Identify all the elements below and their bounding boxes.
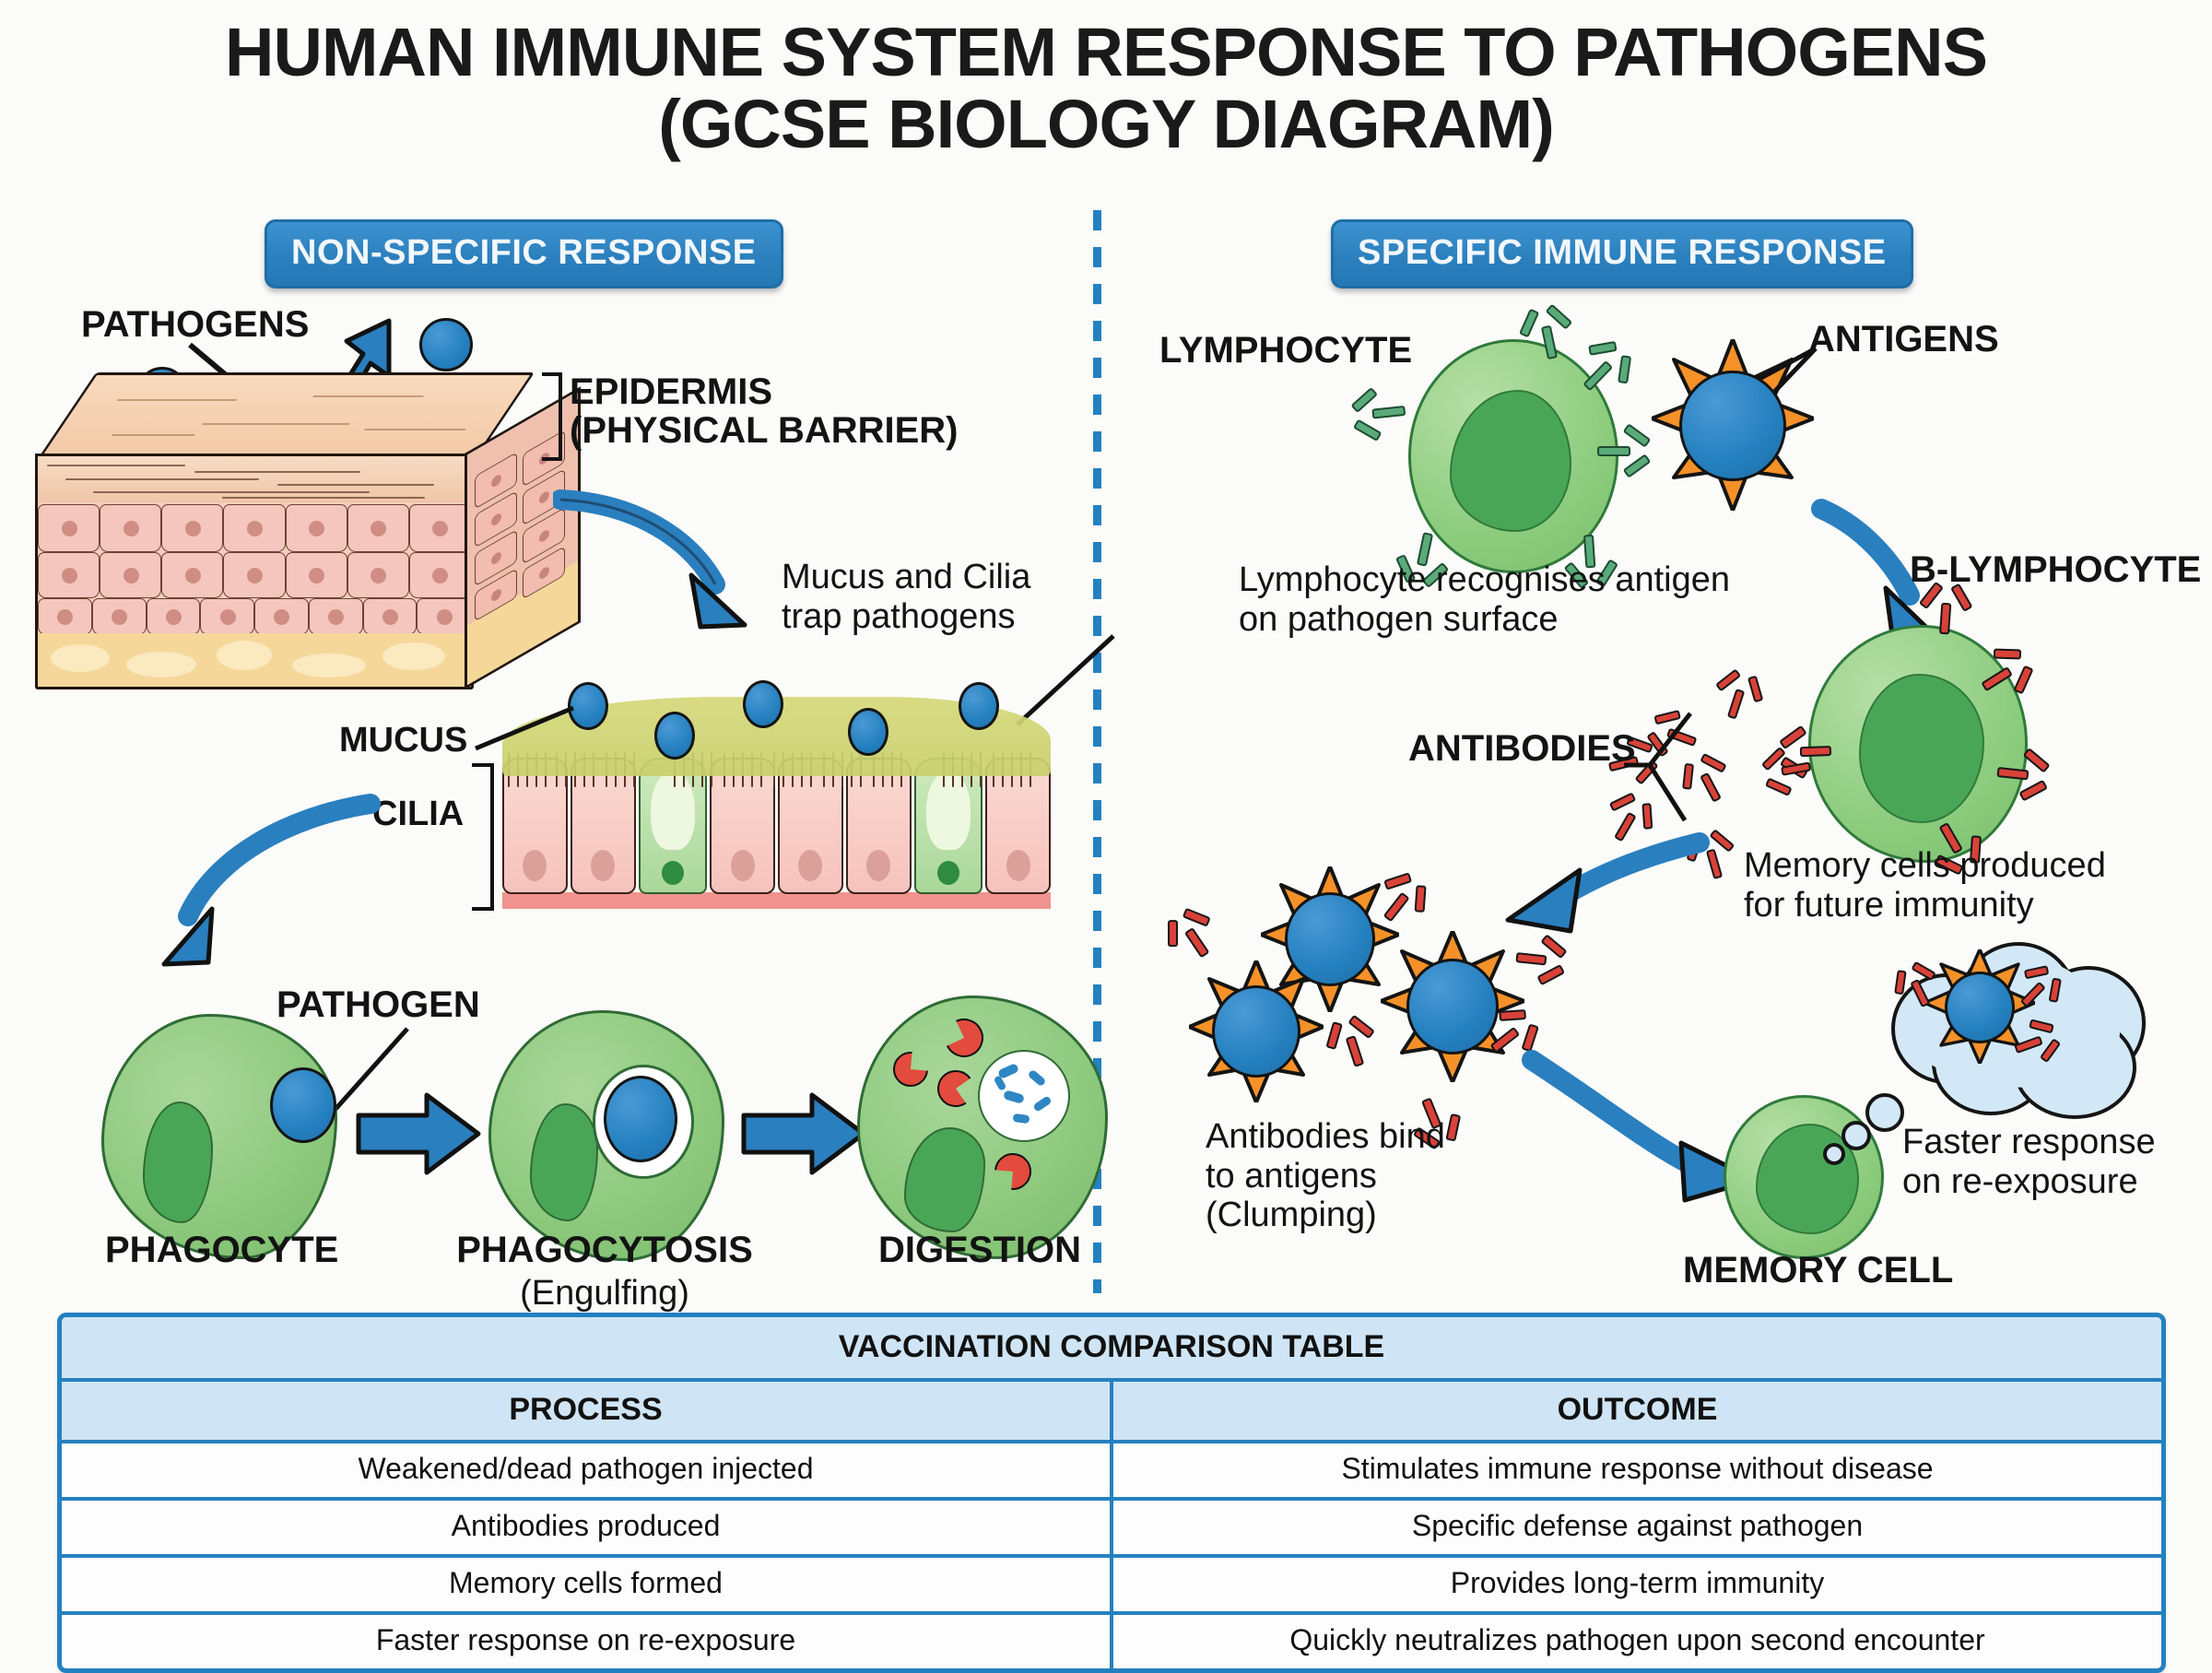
epidermis-layers xyxy=(35,454,474,689)
table-row: Antibodies produced Specific defense aga… xyxy=(62,1497,2161,1554)
receptor-icon xyxy=(1347,387,1407,442)
cilia-bracket xyxy=(472,763,494,911)
lysosome-vacuole xyxy=(978,1050,1070,1142)
thought-bubble-tail xyxy=(1865,1093,1904,1132)
table-cell-process: Faster response on re-exposure xyxy=(62,1615,1110,1668)
antibodies-label: ANTIBODIES xyxy=(1408,728,1636,770)
antibody-icon xyxy=(1994,747,2053,800)
title-line-1: HUMAN IMMUNE SYSTEM RESPONSE TO PATHOGEN… xyxy=(225,14,1987,90)
memory-cell xyxy=(1724,1095,1884,1259)
enzyme-icon xyxy=(939,1013,989,1063)
basement-membrane xyxy=(502,892,1051,909)
skin-surface xyxy=(35,372,535,463)
memory-cell-label: MEMORY CELL xyxy=(1683,1250,1953,1291)
cell-nucleus xyxy=(1450,390,1571,532)
pathogen-core xyxy=(1285,892,1375,986)
clumping-caption-line-1: Antibodies bind xyxy=(1206,1117,1445,1157)
faster-caption-line-2: on re-exposure xyxy=(1902,1162,2156,1202)
memory-caption-line-1: Memory cells produced xyxy=(1744,846,2106,886)
phagocytosis-cell xyxy=(488,1010,724,1261)
epidermis-label: EPIDERMIS (PHYSICAL BARRIER) xyxy=(570,372,959,450)
table-header-process: PROCESS xyxy=(62,1382,1110,1440)
table-caption-row: VACCINATION COMPARISON TABLE xyxy=(62,1317,2161,1378)
epithelium-to-phagocyte-arrow xyxy=(157,793,387,977)
section-badge-specific: SPECIFIC IMMUNE RESPONSE xyxy=(1331,219,1913,289)
stratum-corneum xyxy=(38,456,471,502)
table-header-outcome: OUTCOME xyxy=(1110,1382,2161,1440)
antibodies-leader-lines xyxy=(1620,708,1703,828)
cell-nucleus xyxy=(1859,674,1984,823)
subcutaneous-fat xyxy=(38,633,471,687)
cell-nucleus xyxy=(530,1103,598,1221)
faster-caption-line-1: Faster response xyxy=(1902,1123,2156,1162)
antibody-icon xyxy=(1919,579,1971,635)
pathogen-dot xyxy=(848,708,888,756)
enzyme-icon xyxy=(886,1044,935,1094)
epidermis-bracket xyxy=(542,372,562,461)
vaccination-comparison-table: VACCINATION COMPARISON TABLE PROCESS OUT… xyxy=(57,1313,2166,1673)
receptor-icon xyxy=(1515,300,1575,364)
pathogen-dot xyxy=(270,1067,336,1143)
process-arrow xyxy=(740,1088,869,1180)
antibody-icon xyxy=(1514,933,1571,984)
clumping-caption-line-3: (Clumping) xyxy=(1206,1196,1445,1235)
memory-caption-line-2: for future immunity xyxy=(1744,886,2106,925)
table-row: Weakened/dead pathogen injected Stimulat… xyxy=(62,1440,2161,1497)
antigen-pathogen xyxy=(1189,960,1324,1102)
lymphocyte-label: LYMPHOCYTE xyxy=(1159,330,1412,371)
table-header-row: PROCESS OUTCOME xyxy=(62,1378,2161,1440)
receptor-icon xyxy=(1597,425,1653,475)
antibody-icon xyxy=(1157,901,1224,969)
antibody-icon xyxy=(1758,746,1815,798)
section-badge-non-specific: NON-SPECIFIC RESPONSE xyxy=(265,219,783,289)
table-cell-outcome: Specific defense against pathogen xyxy=(1110,1501,2161,1554)
table-caption: VACCINATION COMPARISON TABLE xyxy=(62,1317,2161,1378)
stage-label-phagocytosis: PHAGOCYTOSIS xyxy=(441,1230,769,1271)
cell-nucleus xyxy=(904,1127,985,1232)
stage-label-phagocyte: PHAGOCYTE xyxy=(105,1230,335,1271)
mucus-leader-line xyxy=(472,701,582,756)
thought-bubble-tail xyxy=(1841,1121,1871,1150)
mucus-label: MUCUS xyxy=(339,721,467,760)
title-line-2: (GCSE BIOLOGY DIAGRAM) xyxy=(0,88,2212,160)
table-cell-outcome: Provides long-term immunity xyxy=(1110,1558,2161,1611)
table-cell-process: Weakened/dead pathogen injected xyxy=(62,1443,1110,1497)
table-cell-process: Memory cells formed xyxy=(62,1558,1110,1611)
pathogen-label: PATHOGEN xyxy=(276,984,480,1026)
epidermis-label-line-1: EPIDERMIS xyxy=(570,372,959,411)
table-cell-outcome: Stimulates immune response without disea… xyxy=(1110,1443,2161,1497)
skin-to-epithelium-arrow xyxy=(553,487,765,653)
pathogen-dot xyxy=(419,318,473,371)
recognise-caption-line-2: on pathogen surface xyxy=(1239,600,1730,640)
pathogen-dot xyxy=(654,712,695,760)
skin-cross-section xyxy=(35,372,579,695)
process-arrow xyxy=(355,1088,484,1180)
memory-caption: Memory cells produced for future immunit… xyxy=(1744,846,2106,925)
mucus-cilia-caption-line-2: trap pathogens xyxy=(782,597,1030,637)
clumping-caption-line-2: to antigens xyxy=(1206,1157,1445,1196)
antibody-icon xyxy=(1321,1010,1381,1074)
pathogen-core xyxy=(1945,972,2015,1043)
pathogen-core xyxy=(1212,985,1300,1078)
stage-sublabel-phagocytosis: (Engulfing) xyxy=(441,1274,769,1314)
enzyme-icon xyxy=(987,1146,1039,1197)
mucus-cilia-caption: Mucus and Cilia trap pathogens xyxy=(782,558,1030,636)
pathogen-core xyxy=(1679,371,1786,481)
epidermis-label-line-2: (PHYSICAL BARRIER) xyxy=(570,411,959,450)
thought-bubble-tail xyxy=(1823,1143,1845,1165)
recognise-caption-line-1: Lymphocyte recognises antigen xyxy=(1239,560,1730,600)
table-cell-process: Antibodies produced xyxy=(62,1501,1110,1554)
clumping-caption: Antibodies bind to antigens (Clumping) xyxy=(1206,1117,1445,1235)
pathogen-dot xyxy=(959,682,999,730)
page-title: HUMAN IMMUNE SYSTEM RESPONSE TO PATHOGEN… xyxy=(0,17,2212,159)
cell-nucleus xyxy=(143,1102,213,1223)
table-row: Memory cells formed Provides long-term i… xyxy=(62,1554,2161,1611)
diagram-canvas: HUMAN IMMUNE SYSTEM RESPONSE TO PATHOGEN… xyxy=(0,0,2212,1652)
antigens-label: ANTIGENS xyxy=(1808,319,1999,360)
faster-response-caption: Faster response on re-exposure xyxy=(1902,1123,2156,1201)
digestion-cell xyxy=(857,996,1108,1259)
pathogen-dot xyxy=(743,680,783,728)
antibody-icon xyxy=(1710,664,1767,725)
enzyme-icon xyxy=(935,1067,977,1110)
recognise-caption: Lymphocyte recognises antigen on pathoge… xyxy=(1239,560,1730,639)
engulfed-pathogen xyxy=(604,1076,677,1162)
b-cell-to-clumping-arrow xyxy=(1491,830,1712,949)
table-cell-outcome: Quickly neutralizes pathogen upon second… xyxy=(1110,1615,2161,1668)
stage-label-digestion: DIGESTION xyxy=(846,1230,1113,1271)
table-row: Faster response on re-exposure Quickly n… xyxy=(62,1611,2161,1668)
pathogen-core xyxy=(1406,959,1499,1054)
mucus-cilia-caption-line-1: Mucus and Cilia xyxy=(782,558,1030,597)
